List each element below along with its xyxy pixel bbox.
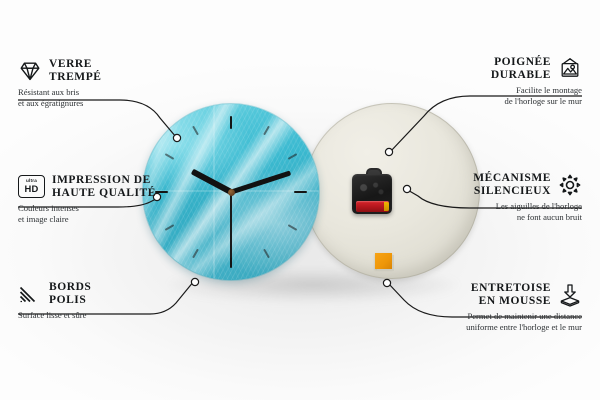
foam-spacer-icon [558,283,582,307]
infographic-canvas: VERRE TREMPÉ Résistant aux bris et aux é… [0,0,600,400]
clock-movement [352,172,392,214]
feature-entretoise-en-mousse: ENTRETOISE EN MOUSSE Permet de maintenir… [412,282,582,332]
feature-mecanisme-silencieux: MÉCANISME SILENCIEUX Les aiguilles de l'… [426,172,582,222]
feature-title: POIGNÉE DURABLE [491,56,551,81]
feature-heading-row: ENTRETOISE EN MOUSSE [412,282,582,307]
movement-housing [352,174,392,214]
feature-heading-row: MÉCANISME SILENCIEUX [426,172,582,197]
feature-bords-polis: BORDS POLIS Surface lisse et sûre [18,281,168,321]
feature-heading-row: VERRE TREMPÉ [18,58,168,83]
feature-description: Surface lisse et sûre [18,310,168,320]
feature-heading-row: BORDS POLIS [18,281,168,306]
feature-description: Permet de maintenir une distance uniform… [412,311,582,332]
feature-heading-row: POIGNÉE DURABLE [432,56,582,81]
feature-title: MÉCANISME SILENCIEUX [473,172,551,197]
second-hand [230,192,232,258]
feature-title: VERRE TREMPÉ [49,58,102,83]
feature-title: BORDS POLIS [49,281,91,306]
clock-tick [294,191,307,193]
clock-tick [230,116,232,129]
feature-description: Les aiguilles de l'horloge ne font aucun… [426,201,582,222]
ultra-hd-icon: ultra HD [18,175,45,198]
feature-description: Résistant aux bris et aux égratignures [18,87,168,108]
hand-center-cap [228,189,235,196]
feature-description: Couleurs intenses et image claire [18,203,173,224]
feature-title: IMPRESSION DE HAUTE QUALITÉ [52,174,156,199]
feature-verre-trempe: VERRE TREMPÉ Résistant aux bris et aux é… [18,58,168,108]
battery-terminal [384,202,389,211]
hanging-frame-icon [558,57,582,81]
feature-impression-haute-qualite: ultra HD IMPRESSION DE HAUTE QUALITÉ Cou… [18,174,173,224]
feature-poignee-durable: POIGNÉE DURABLE Facilite le montage de l… [432,56,582,106]
feature-title: ENTRETOISE EN MOUSSE [471,282,551,307]
feature-heading-row: ultra HD IMPRESSION DE HAUTE QUALITÉ [18,174,173,199]
diamond-icon [18,59,42,83]
gear-icon [558,173,582,197]
battery [356,201,389,212]
foam-spacer-pad [375,253,392,269]
movement-detail [357,180,387,197]
ultra-hd-icon-main-text: HD [25,184,39,193]
polished-edges-icon [18,282,42,306]
feature-description: Facilite le montage de l'horloge sur le … [432,85,582,106]
